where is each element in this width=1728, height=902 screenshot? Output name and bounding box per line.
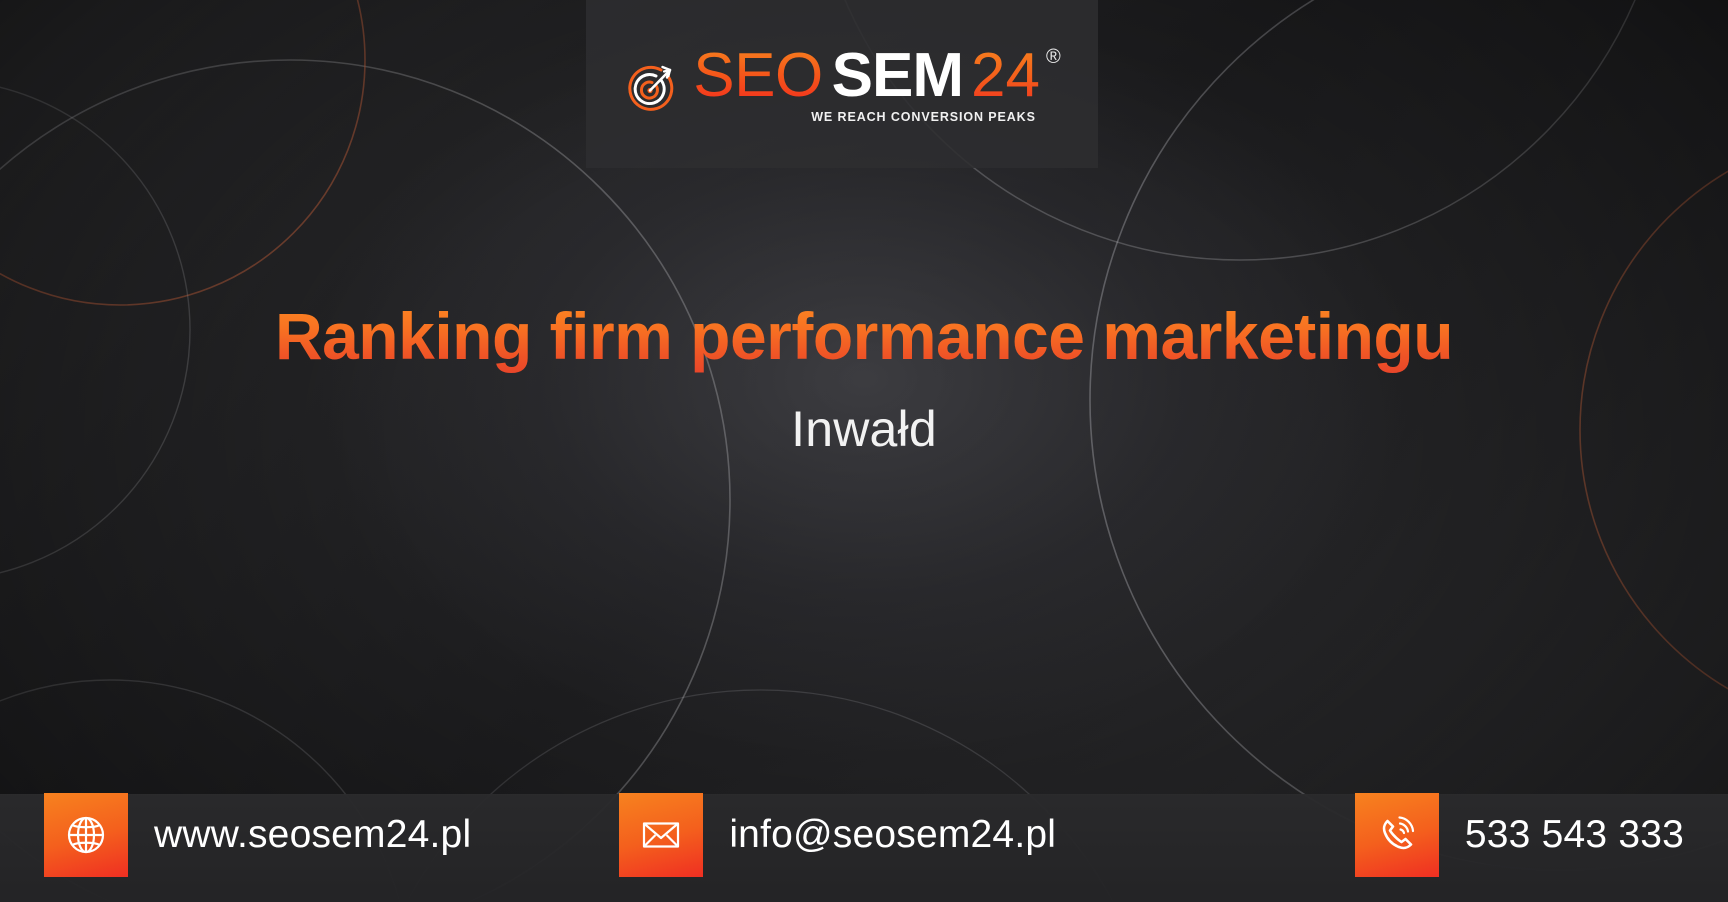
logo-word-24: 24	[971, 45, 1040, 107]
contact-email-label: info@seosem24.pl	[729, 813, 1056, 857]
contact-email[interactable]: info@seosem24.pl	[619, 793, 1056, 877]
logo-word-sem: SEM	[832, 45, 963, 107]
logo-tagline: WE REACH CONVERSION PEAKS	[811, 110, 1061, 124]
target-arrow-icon	[623, 61, 679, 117]
logo-word-seo: SEO	[693, 45, 822, 107]
hero-block: Ranking firm performance marketingu Inwa…	[0, 300, 1728, 458]
footer-contact-list: www.seosem24.pl info@seosem24.pl	[0, 780, 1728, 902]
registered-trademark-icon: ®	[1046, 45, 1061, 69]
contact-website-label: www.seosem24.pl	[154, 813, 471, 857]
contact-phone[interactable]: 533 543 333	[1355, 793, 1684, 877]
page-title: Ranking firm performance marketingu	[0, 300, 1728, 374]
logo-wordmark: SEO SEM 24 ® WE REACH CONVERSION PEAKS	[693, 45, 1061, 124]
envelope-icon	[619, 793, 703, 877]
deco-circle-small-left	[0, 0, 365, 305]
contact-phone-label: 533 543 333	[1465, 813, 1684, 857]
logo-words-row: SEO SEM 24 ®	[693, 45, 1061, 107]
contact-website[interactable]: www.seosem24.pl	[44, 793, 471, 877]
logo-panel: SEO SEM 24 ® WE REACH CONVERSION PEAKS	[586, 0, 1098, 168]
globe-icon	[44, 793, 128, 877]
brand-logo: SEO SEM 24 ® WE REACH CONVERSION PEAKS	[623, 45, 1061, 124]
slide-canvas: SEO SEM 24 ® WE REACH CONVERSION PEAKS R…	[0, 0, 1728, 902]
phone-icon	[1355, 793, 1439, 877]
deco-circle-large-left	[0, 60, 730, 902]
page-subtitle: Inwałd	[0, 400, 1728, 458]
